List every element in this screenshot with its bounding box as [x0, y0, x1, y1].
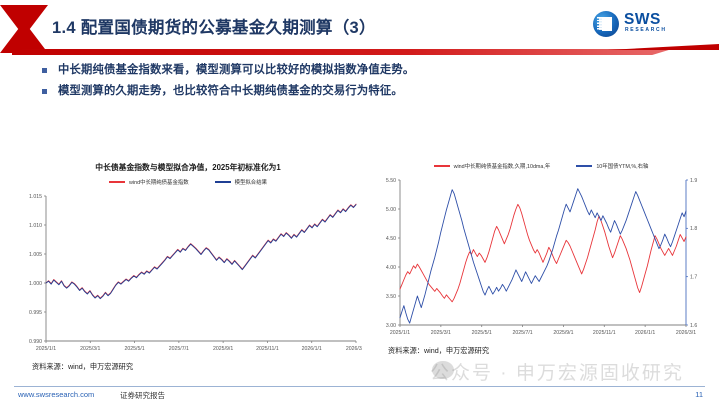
svg-text:3.00: 3.00	[386, 323, 396, 329]
header-chevron-decoration	[0, 5, 48, 53]
watermark-dot	[432, 361, 454, 379]
svg-text:1.7: 1.7	[690, 275, 697, 281]
legend-label: wind中长期纯债基金指数,久期,10dma,年	[454, 162, 551, 170]
sws-logo: SWS RESEARCH	[593, 10, 705, 40]
svg-text:2025/11/1: 2025/11/1	[256, 346, 279, 352]
sws-logo-icon	[593, 11, 619, 37]
svg-text:1.000: 1.000	[29, 281, 42, 287]
legend-item: wind中长期纯债基金指数,久期,10dma,年	[434, 162, 551, 170]
svg-text:2025/3/1: 2025/3/1	[80, 346, 100, 352]
svg-text:5.00: 5.00	[386, 207, 396, 213]
list-item: 中长期纯债基金指数来看，模型测算可以比较好的模拟指数净值走势。	[42, 63, 602, 77]
legend-item: 模型拟合结果	[215, 178, 267, 186]
legend-item: 10年国债YTM,%,右轴	[576, 162, 648, 170]
svg-text:0.995: 0.995	[29, 310, 42, 316]
page-title: 1.4 配置国债期货的公募基金久期测算（3）	[52, 14, 376, 38]
svg-text:2026/3/1: 2026/3/1	[346, 346, 362, 352]
svg-text:2025/1/1: 2025/1/1	[36, 346, 56, 352]
chart-title-left: 中长债基金指数与模型拟合净值，2025年初标准化为1	[14, 162, 362, 173]
footer-label: 证券研究报告	[120, 390, 165, 401]
legend-item: wind中长期纯债基金指数	[109, 178, 189, 186]
legend-color-swatch	[215, 181, 231, 183]
svg-text:1.6: 1.6	[690, 323, 697, 329]
legend-color-swatch	[434, 165, 450, 167]
legend-label: 模型拟合结果	[235, 178, 267, 186]
svg-text:2025/11/1: 2025/11/1	[593, 330, 616, 336]
svg-text:1.005: 1.005	[29, 252, 42, 258]
svg-text:3.50: 3.50	[386, 294, 396, 300]
legend-label: wind中长期纯债基金指数	[129, 178, 189, 186]
svg-text:2025/5/1: 2025/5/1	[472, 330, 492, 336]
svg-text:0.990: 0.990	[29, 339, 42, 345]
svg-text:2026/1/1: 2026/1/1	[302, 346, 322, 352]
bullet-list: 中长期纯债基金指数来看，模型测算可以比较好的模拟指数净值走势。 模型测算的久期走…	[42, 63, 602, 105]
svg-text:5.50: 5.50	[386, 178, 396, 184]
chart-plot-right: 3.003.504.004.505.005.501.61.71.81.92025…	[374, 176, 708, 339]
legend-color-swatch	[109, 181, 125, 183]
legend-color-swatch	[576, 165, 592, 167]
legend-label: 10年国债YTM,%,右轴	[596, 162, 648, 170]
svg-text:1.015: 1.015	[29, 194, 42, 200]
svg-text:1.010: 1.010	[29, 223, 42, 229]
svg-text:2025/3/1: 2025/3/1	[431, 330, 451, 336]
svg-text:2025/9/1: 2025/9/1	[553, 330, 573, 336]
svg-text:2025/1/1: 2025/1/1	[390, 330, 410, 336]
source-note-left: 资料来源：wind，申万宏源研究	[14, 362, 362, 372]
svg-text:4.50: 4.50	[386, 236, 396, 242]
svg-text:2025/7/1: 2025/7/1	[169, 346, 189, 352]
header-red-bar	[12, 49, 672, 55]
bullet-text: 模型测算的久期走势，也比较符合中长期纯债基金的交易行为特征。	[58, 84, 403, 98]
bullet-text: 中长期纯债基金指数来看，模型测算可以比较好的模拟指数净值走势。	[58, 63, 414, 77]
svg-text:2026/1/1: 2026/1/1	[635, 330, 655, 336]
svg-text:2025/9/1: 2025/9/1	[213, 346, 233, 352]
svg-text:1.9: 1.9	[690, 178, 697, 184]
page-number: 11	[695, 390, 703, 399]
footer-url[interactable]: www.swsresearch.com	[18, 390, 94, 399]
sws-logo-subtext: RESEARCH	[625, 27, 667, 33]
chart-legend-right: wind中长期纯债基金指数,久期,10dma,年 10年国债YTM,%,右轴	[374, 162, 708, 170]
chart-panel-left: 中长债基金指数与模型拟合净值，2025年初标准化为1 wind中长期纯债基金指数…	[14, 150, 362, 388]
slide-header: 1.4 配置国债期货的公募基金久期测算（3） SWS RESEARCH	[0, 0, 719, 62]
line-chart-left: 0.9900.9951.0001.0051.0101.0152025/1/120…	[14, 192, 362, 355]
svg-text:2025/5/1: 2025/5/1	[124, 346, 144, 352]
footer-divider	[14, 386, 705, 387]
source-note-right: 资料来源：wind，申万宏源研究	[374, 346, 708, 356]
list-item: 模型测算的久期走势，也比较符合中长期纯债基金的交易行为特征。	[42, 84, 602, 98]
chart-legend-left: wind中长期纯债基金指数 模型拟合结果	[14, 178, 362, 186]
svg-text:4.00: 4.00	[386, 265, 396, 271]
square-bullet-icon	[42, 68, 47, 73]
chart-panel-right: wind中长期纯债基金指数,久期,10dma,年 10年国债YTM,%,右轴 3…	[374, 150, 708, 388]
svg-text:1.8: 1.8	[690, 226, 697, 232]
svg-text:2026/3/1: 2026/3/1	[676, 330, 696, 336]
square-bullet-icon	[42, 89, 47, 94]
chart-plot-left: 0.9900.9951.0001.0051.0101.0152025/1/120…	[14, 192, 362, 355]
line-chart-right: 3.003.504.004.505.005.501.61.71.81.92025…	[374, 176, 708, 339]
svg-text:2025/7/1: 2025/7/1	[512, 330, 532, 336]
